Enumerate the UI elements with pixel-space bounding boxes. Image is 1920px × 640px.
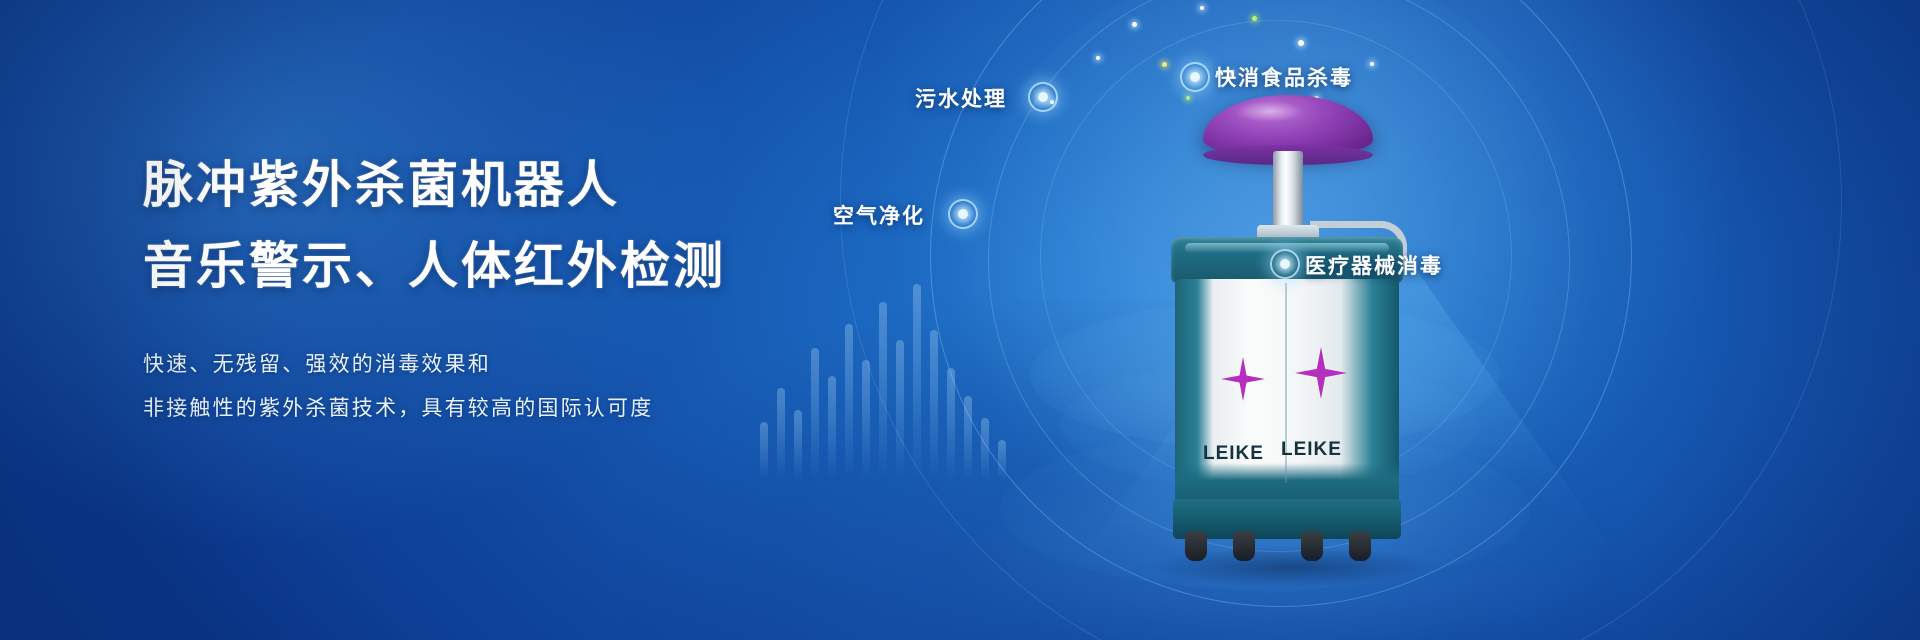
sparkle-icon: [1298, 40, 1304, 46]
brand-wordmark-left: LEIKE: [1203, 443, 1264, 465]
callout-fmcg-food-sterilization: 快消食品杀毒: [1215, 62, 1353, 92]
sparkle-icon: [1200, 6, 1204, 10]
callout-marker-dot: [948, 199, 978, 229]
sparkle-icon: [1162, 62, 1167, 67]
body-copy-line-2: 非接触性的紫外杀菌技术，具有较高的国际认可度: [143, 386, 843, 430]
callout-marker-dot: [1270, 249, 1300, 279]
robot-body-shell: [1175, 279, 1399, 517]
headline-primary: 脉冲紫外杀菌机器人: [143, 150, 843, 221]
sparkle-icon: [1132, 22, 1137, 27]
callout-wastewater-treatment: 污水处理: [915, 83, 1007, 113]
ground-shadow: [1151, 547, 1431, 587]
callout-marker-dot: [1028, 82, 1058, 112]
sparkle-icon: [1252, 16, 1257, 21]
sparkle-icon: [1370, 62, 1374, 66]
uv-disinfection-robot: LEIKE LEIKE: [1145, 95, 1445, 515]
callout-medical-device-disinfection: 医疗器械消毒: [1305, 250, 1443, 280]
callout-marker-dot: [1180, 62, 1210, 92]
headline-copy-block: 脉冲紫外杀菌机器人 音乐警示、人体红外检测 快速、无残留、强效的消毒效果和 非接…: [143, 150, 843, 430]
callout-air-purification: 空气净化: [833, 200, 925, 230]
body-copy: 快速、无残留、强效的消毒效果和 非接触性的紫外杀菌技术，具有较高的国际认可度: [143, 342, 843, 430]
sparkle-icon: [1096, 56, 1100, 60]
headline-secondary: 音乐警示、人体红外检测: [143, 231, 843, 302]
brand-wordmark-right: LEIKE: [1281, 439, 1342, 461]
product-banner: 脉冲紫外杀菌机器人 音乐警示、人体红外检测 快速、无残留、强效的消毒效果和 非接…: [0, 0, 1920, 640]
lamp-stem: [1273, 151, 1303, 235]
body-copy-line-1: 快速、无残留、强效的消毒效果和: [143, 342, 843, 386]
